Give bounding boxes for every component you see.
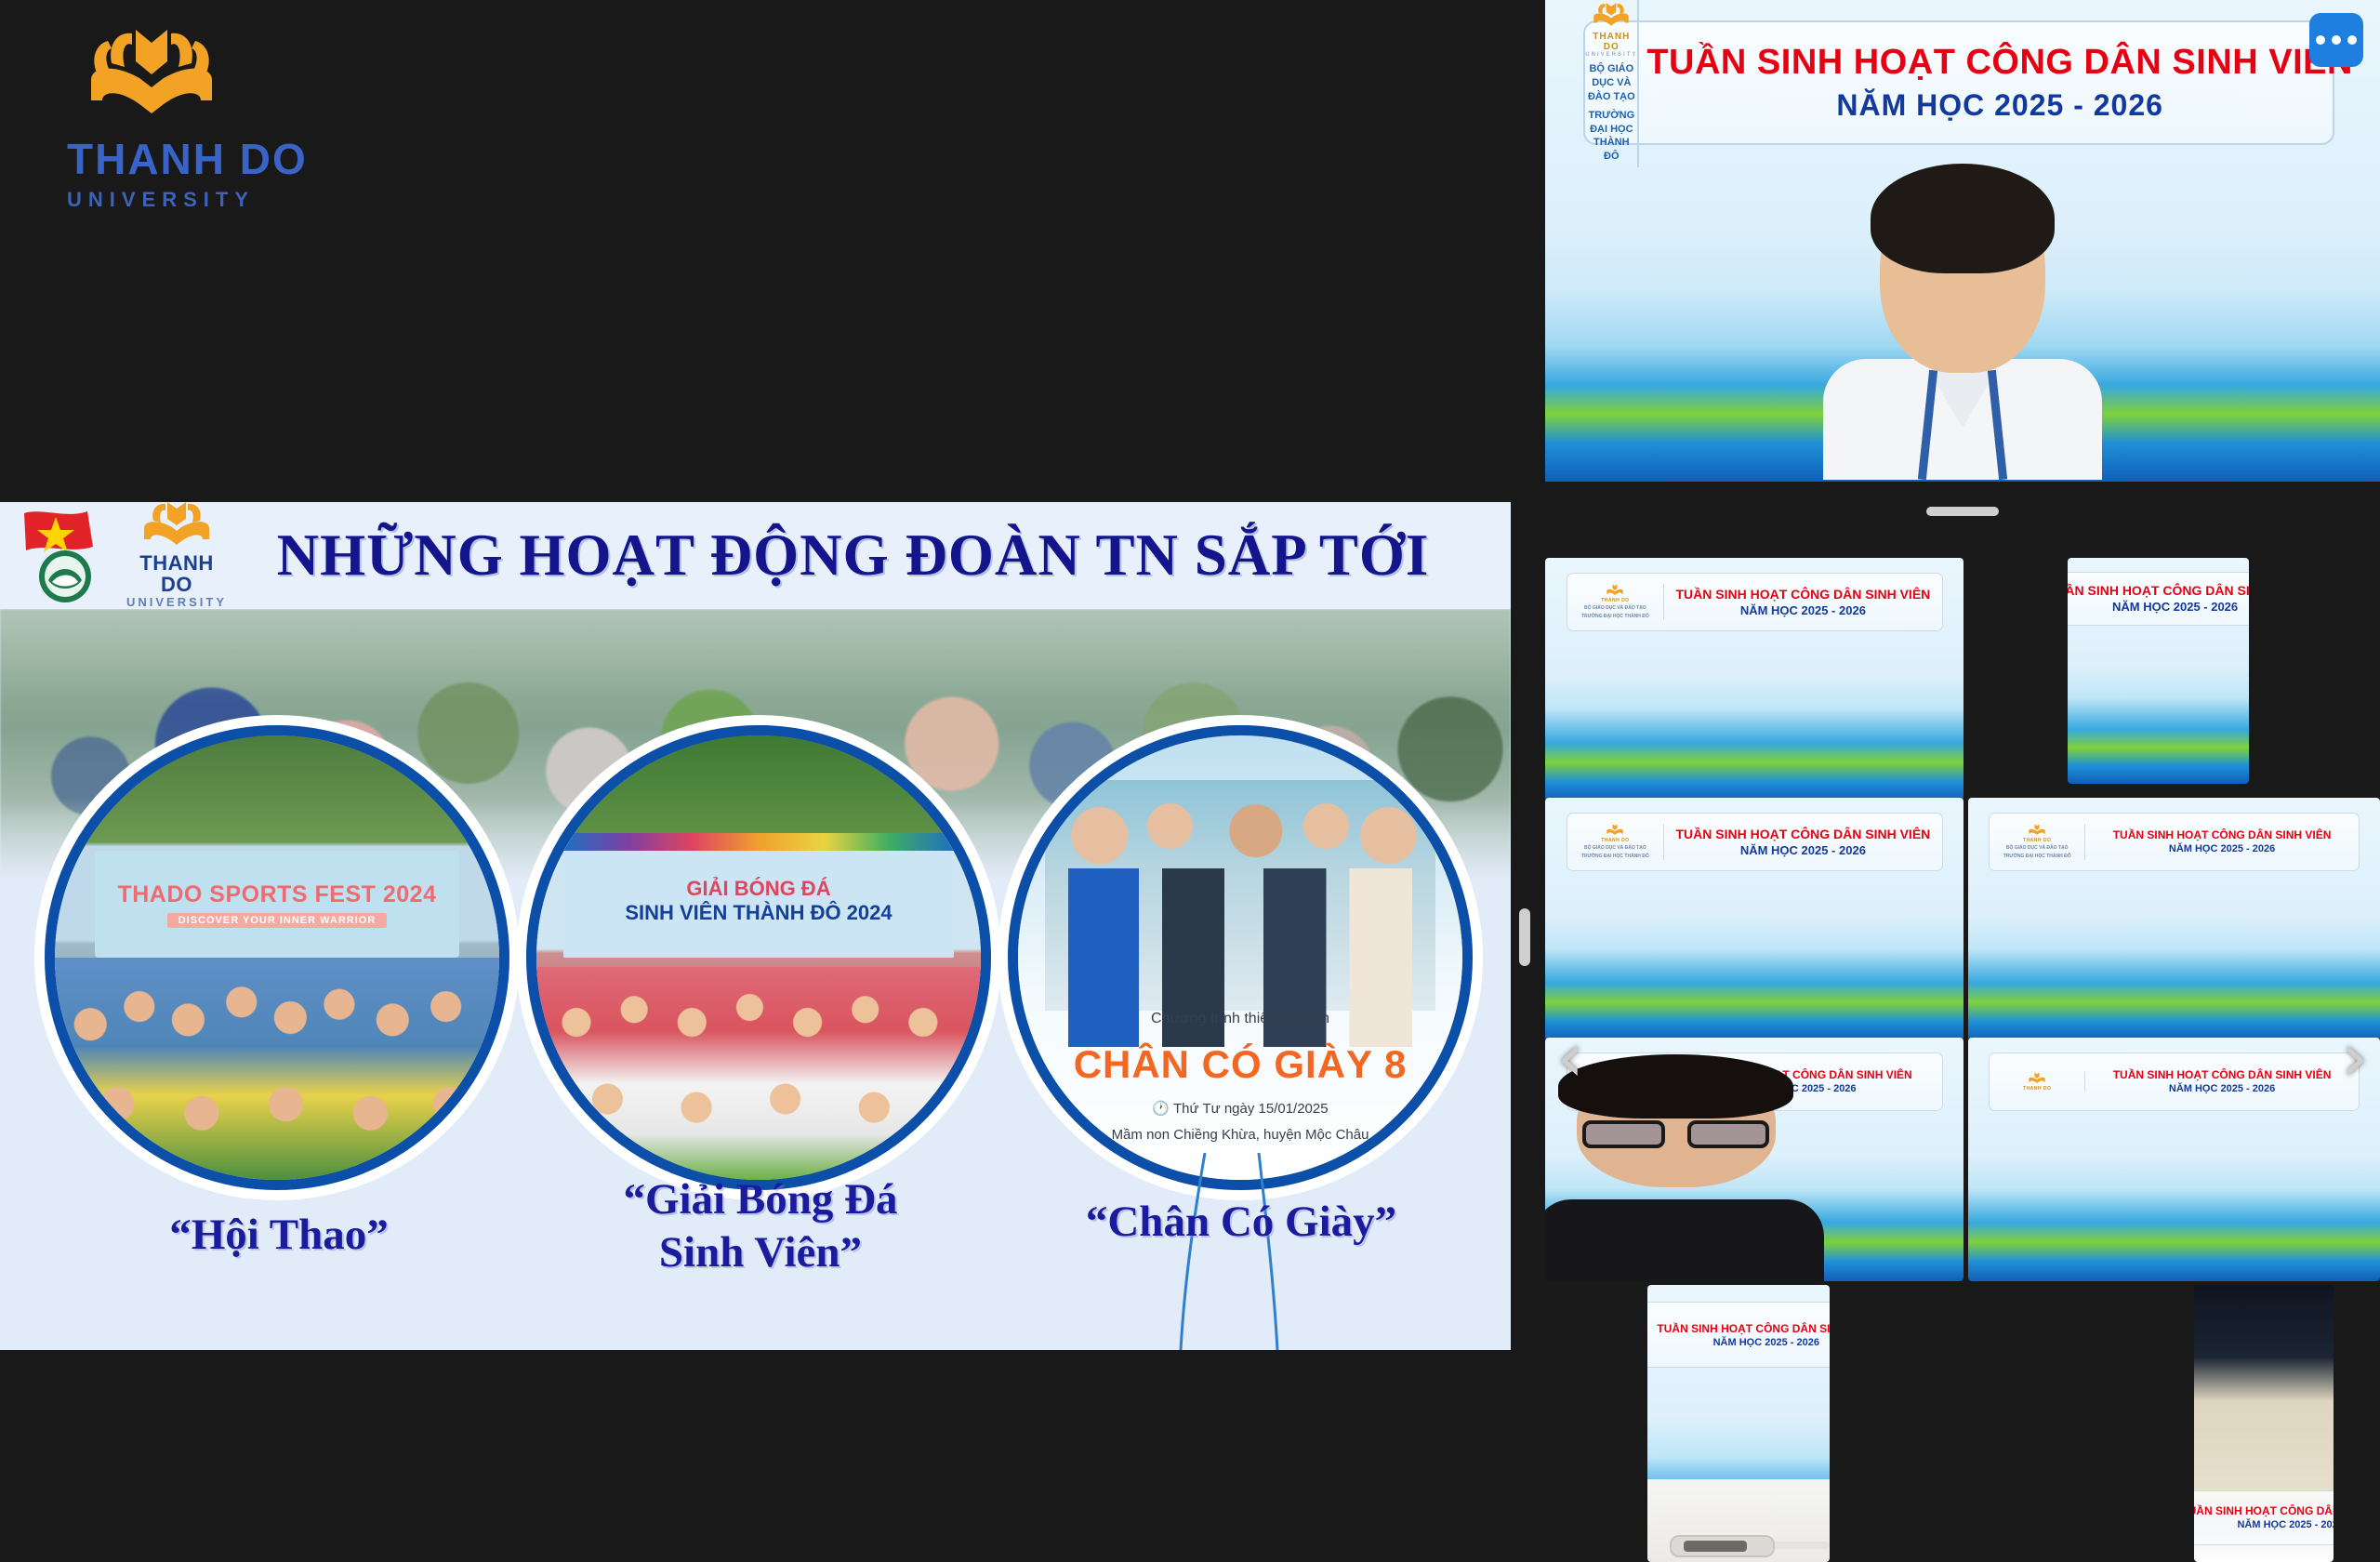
tile-banner: THANH DO BỘ GIÁO DỤC VÀ ĐÀO TẠO TRƯỜNG Đ… bbox=[1567, 813, 1943, 871]
lotus-book-icon bbox=[2028, 1072, 2046, 1085]
sports-fest-poster: THADO SPORTS FEST 2024 DISCOVER YOUR INN… bbox=[95, 851, 459, 958]
lotus-book-icon bbox=[2028, 824, 2046, 837]
participant-tile[interactable]: THANH DO BỘ GIÁO DỤC VÀ ĐÀO TẠO TRƯỜNG Đ… bbox=[1545, 558, 1963, 801]
tile-logo: THANH DO BỘ GIÁO DỤC VÀ ĐÀO TẠO TRƯỜNG Đ… bbox=[1567, 824, 1665, 860]
shared-screen-slide[interactable]: THANH DO UNIVERSITY NHỮNG HOẠT ĐỘNG ĐOÀN… bbox=[0, 502, 1511, 1350]
charity-poster-date: 🕐 Thứ Tư ngày 15/01/2025 bbox=[1018, 1100, 1462, 1117]
more-dot-1 bbox=[2316, 35, 2325, 45]
app-branding: THANH DO UNIVERSITY bbox=[67, 24, 383, 210]
meeting-screen: THANH DO UNIVERSITY bbox=[0, 0, 2380, 1562]
speaker-logo-sub: UNIVERSITY bbox=[1585, 52, 1637, 58]
participant-tile-dark[interactable]: TUẦN SINH HOẠT CÔNG DÂN SINH VIÊN NĂM HỌ… bbox=[2194, 1285, 2334, 1562]
participant-grid[interactable]: THANH DO BỘ GIÁO DỤC VÀ ĐÀO TẠO TRƯỜNG Đ… bbox=[1545, 558, 2380, 1562]
speaker-banner: THANH DO UNIVERSITY BỘ GIÁO DỤC VÀ ĐÀO T… bbox=[1583, 20, 2334, 146]
speaker-banner-title: TUẦN SINH HOẠT CÔNG DÂN SINH VIÊN bbox=[1646, 43, 2353, 83]
football-poster: GIẢI BÓNG ĐÁ SINH VIÊN THÀNH ĐÔ 2024 bbox=[563, 833, 955, 958]
tile-banner-title: TUẦN SINH HOẠT CÔNG DÂN SINH VIÊN bbox=[1664, 587, 1941, 602]
tile-banner-subtitle: NĂM HỌC 2025 - 2026 bbox=[1664, 843, 1941, 857]
lotus-book-icon bbox=[1606, 584, 1624, 597]
tile-banner-title: TUẦN SINH HOẠT CÔNG DÂN SINH VIÊN bbox=[2085, 828, 2359, 841]
tile-banner: TUẦN SINH HOẠT CÔNG DÂN SINH VIÊN NĂM HỌ… bbox=[1647, 1302, 1830, 1369]
sports-fest-subtitle: DISCOVER YOUR INNER WARRIOR bbox=[167, 913, 388, 928]
activity-circle-bong-da[interactable]: GIẢI BÓNG ĐÁ SINH VIÊN THÀNH ĐÔ 2024 bbox=[526, 725, 991, 1190]
active-speaker-tile[interactable]: THANH DO UNIVERSITY BỘ GIÁO DỤC VÀ ĐÀO T… bbox=[1545, 0, 2380, 482]
tile-banner: TUẦN SINH HOẠT CÔNG DÂN SINH VIÊN NĂM HỌ… bbox=[2068, 572, 2249, 626]
tile-banner-title: TUẦN SINH HOẠT CÔNG DÂN SINH VIÊN bbox=[2068, 583, 2249, 598]
tile-banner-subtitle: NĂM HỌC 2025 - 2026 bbox=[1664, 603, 1941, 617]
participant-tile-student[interactable]: THANH DO TUẦN SINH HOẠT CÔNG DÂN SINH VI… bbox=[1545, 1038, 1963, 1281]
tile-banner-title: TUẦN SINH HOẠT CÔNG DÂN SINH VIÊN bbox=[2194, 1504, 2334, 1517]
tile-org-1: BỘ GIÁO DỤC VÀ ĐÀO TẠO bbox=[1990, 845, 2084, 852]
activity-circle-hoi-thao[interactable]: THADO SPORTS FEST 2024 DISCOVER YOUR INN… bbox=[45, 725, 509, 1190]
tile-org-1: BỘ GIÁO DỤC VÀ ĐÀO TẠO bbox=[1567, 845, 1664, 852]
tile-banner-title: TUẦN SINH HOẠT CÔNG DÂN SINH VIÊN bbox=[1657, 1322, 1830, 1335]
tile-banner: TUẦN SINH HOẠT CÔNG DÂN SINH VIÊN NĂM HỌ… bbox=[2194, 1490, 2334, 1546]
tile-org-1: BỘ GIÁO DỤC VÀ ĐÀO TẠO bbox=[1567, 605, 1664, 612]
participant-tile[interactable]: THANH DO TUẦN SINH HOẠT CÔNG DÂN SINH VI… bbox=[1968, 1038, 2380, 1281]
participant-tile[interactable]: THANH DO BỘ GIÁO DỤC VÀ ĐÀO TẠO TRƯỜNG Đ… bbox=[1968, 798, 2380, 1041]
tile-banner: THANH DO TUẦN SINH HOẠT CÔNG DÂN SINH VI… bbox=[1989, 1052, 2360, 1111]
tile-logo-name: THANH DO bbox=[1990, 838, 2084, 843]
tile-banner-subtitle: NĂM HỌC 2025 - 2026 bbox=[2085, 843, 2359, 854]
participant-tile-webcam[interactable]: TUẦN SINH HOẠT CÔNG DÂN SINH VIÊN NĂM HỌ… bbox=[1647, 1285, 1830, 1562]
more-options-button[interactable] bbox=[2309, 13, 2363, 67]
tile-banner-subtitle: NĂM HỌC 2025 - 2026 bbox=[2194, 1519, 2334, 1530]
tile-banner-title: TUẦN SINH HOẠT CÔNG DÂN SINH VIÊN bbox=[1664, 827, 1941, 841]
clock-icon: 🕐 bbox=[1152, 1101, 1170, 1117]
activity-caption-bong-da: “Giải Bóng Đá Sinh Viên” bbox=[556, 1173, 965, 1280]
charity-poster-title: CHÂN CÓ GIÀY 8 bbox=[1018, 1042, 1462, 1087]
speaker-logo-name: THANH DO bbox=[1585, 32, 1637, 52]
activity-caption-hoi-thao: “Hội Thao” bbox=[74, 1209, 483, 1262]
grid-prev-arrow-icon[interactable]: ‹ bbox=[1549, 1020, 1592, 1100]
more-dot-2 bbox=[2332, 35, 2341, 45]
webcam-device-photo bbox=[1647, 1479, 1830, 1562]
tile-org-2: TRƯỜNG ĐẠI HỌC THÀNH ĐÔ bbox=[1567, 854, 1664, 860]
resize-handle-horizontal[interactable] bbox=[1926, 507, 1999, 516]
tile-banner-subtitle: NĂM HỌC 2025 - 2026 bbox=[1657, 1337, 1830, 1348]
tile-logo: THANH DO BỘ GIÁO DỤC VÀ ĐÀO TẠO TRƯỜNG Đ… bbox=[1567, 584, 1665, 620]
participant-tile[interactable]: THANH DO BỘ GIÁO DỤC VÀ ĐÀO TẠO TRƯỜNG Đ… bbox=[1545, 798, 1963, 1041]
pointer-lines bbox=[1116, 1153, 1357, 1350]
caption-line-1: “Giải Bóng Đá bbox=[556, 1173, 965, 1226]
football-poster-line2: SINH VIÊN THÀNH ĐÔ 2024 bbox=[625, 901, 892, 925]
resize-handle-vertical[interactable] bbox=[1519, 908, 1530, 966]
grid-next-arrow-icon[interactable]: › bbox=[2334, 1020, 2376, 1100]
tile-banner-subtitle: NĂM HỌC 2025 - 2026 bbox=[2068, 600, 2249, 614]
charity-poster-location: Mầm non Chiềng Khừa, huyện Mộc Châu bbox=[1018, 1127, 1462, 1143]
tile-logo-name: THANH DO bbox=[1567, 598, 1664, 603]
lotus-book-icon bbox=[1592, 2, 1631, 30]
football-poster-line1: GIẢI BÓNG ĐÁ bbox=[686, 877, 830, 901]
tile-org-2: TRƯỜNG ĐẠI HỌC THÀNH ĐÔ bbox=[1567, 614, 1664, 620]
speaker-avatar bbox=[1823, 173, 2102, 480]
lotus-book-icon bbox=[82, 24, 221, 134]
activity-circle-chan-co-giay[interactable]: Chương trình thiện nguyện CHÂN CÓ GIÀY 8… bbox=[1008, 725, 1473, 1190]
activity-caption-chan-co-giay: “Chân Có Giày” bbox=[1023, 1196, 1460, 1249]
speaker-banner-subtitle: NĂM HỌC 2025 - 2026 bbox=[1646, 88, 2353, 123]
tile-logo-name: THANH DO bbox=[1567, 838, 1664, 843]
tile-banner-subtitle: NĂM HỌC 2025 - 2026 bbox=[2085, 1083, 2359, 1094]
tile-logo-name: THANH DO bbox=[1990, 1086, 2084, 1092]
tile-logo: THANH DO BỘ GIÁO DỤC VÀ ĐÀO TẠO TRƯỜNG Đ… bbox=[1990, 824, 2085, 860]
brand-name: THANH DO bbox=[67, 138, 383, 180]
speaker-banner-logo: THANH DO UNIVERSITY BỘ GIÁO DỤC VÀ ĐÀO T… bbox=[1585, 0, 1639, 167]
sports-fest-title: THADO SPORTS FEST 2024 bbox=[117, 881, 436, 908]
speaker-org-line2: TRƯỜNG ĐẠI HỌC THÀNH ĐÔ bbox=[1585, 109, 1637, 164]
tile-org-2: TRƯỜNG ĐẠI HỌC THÀNH ĐÔ bbox=[1990, 854, 2084, 860]
speaker-org-line1: BỘ GIÁO DỤC VÀ ĐÀO TẠO bbox=[1585, 62, 1637, 104]
speaker-banner-texts: TUẦN SINH HOẠT CÔNG DÂN SINH VIÊN NĂM HỌ… bbox=[1639, 43, 2353, 123]
more-dot-3 bbox=[2347, 35, 2357, 45]
tile-logo: THANH DO bbox=[1990, 1072, 2085, 1092]
glasses-icon bbox=[1582, 1120, 1769, 1148]
lotus-book-icon bbox=[1606, 824, 1624, 837]
participant-tile[interactable]: TUẦN SINH HOẠT CÔNG DÂN SINH VIÊN NĂM HỌ… bbox=[2068, 558, 2249, 784]
tile-banner: THANH DO BỘ GIÁO DỤC VÀ ĐÀO TẠO TRƯỜNG Đ… bbox=[1567, 573, 1943, 631]
tile-banner: THANH DO BỘ GIÁO DỤC VÀ ĐÀO TẠO TRƯỜNG Đ… bbox=[1989, 813, 2360, 871]
brand-subtitle: UNIVERSITY bbox=[67, 190, 383, 210]
lotus-book-icon-svg bbox=[82, 24, 221, 134]
tile-banner-title: TUẦN SINH HOẠT CÔNG DÂN SINH VIÊN bbox=[2085, 1068, 2359, 1081]
charity-poster-kicker: Chương trình thiện nguyện bbox=[1018, 1011, 1462, 1027]
caption-line-2: Sinh Viên” bbox=[556, 1226, 965, 1279]
